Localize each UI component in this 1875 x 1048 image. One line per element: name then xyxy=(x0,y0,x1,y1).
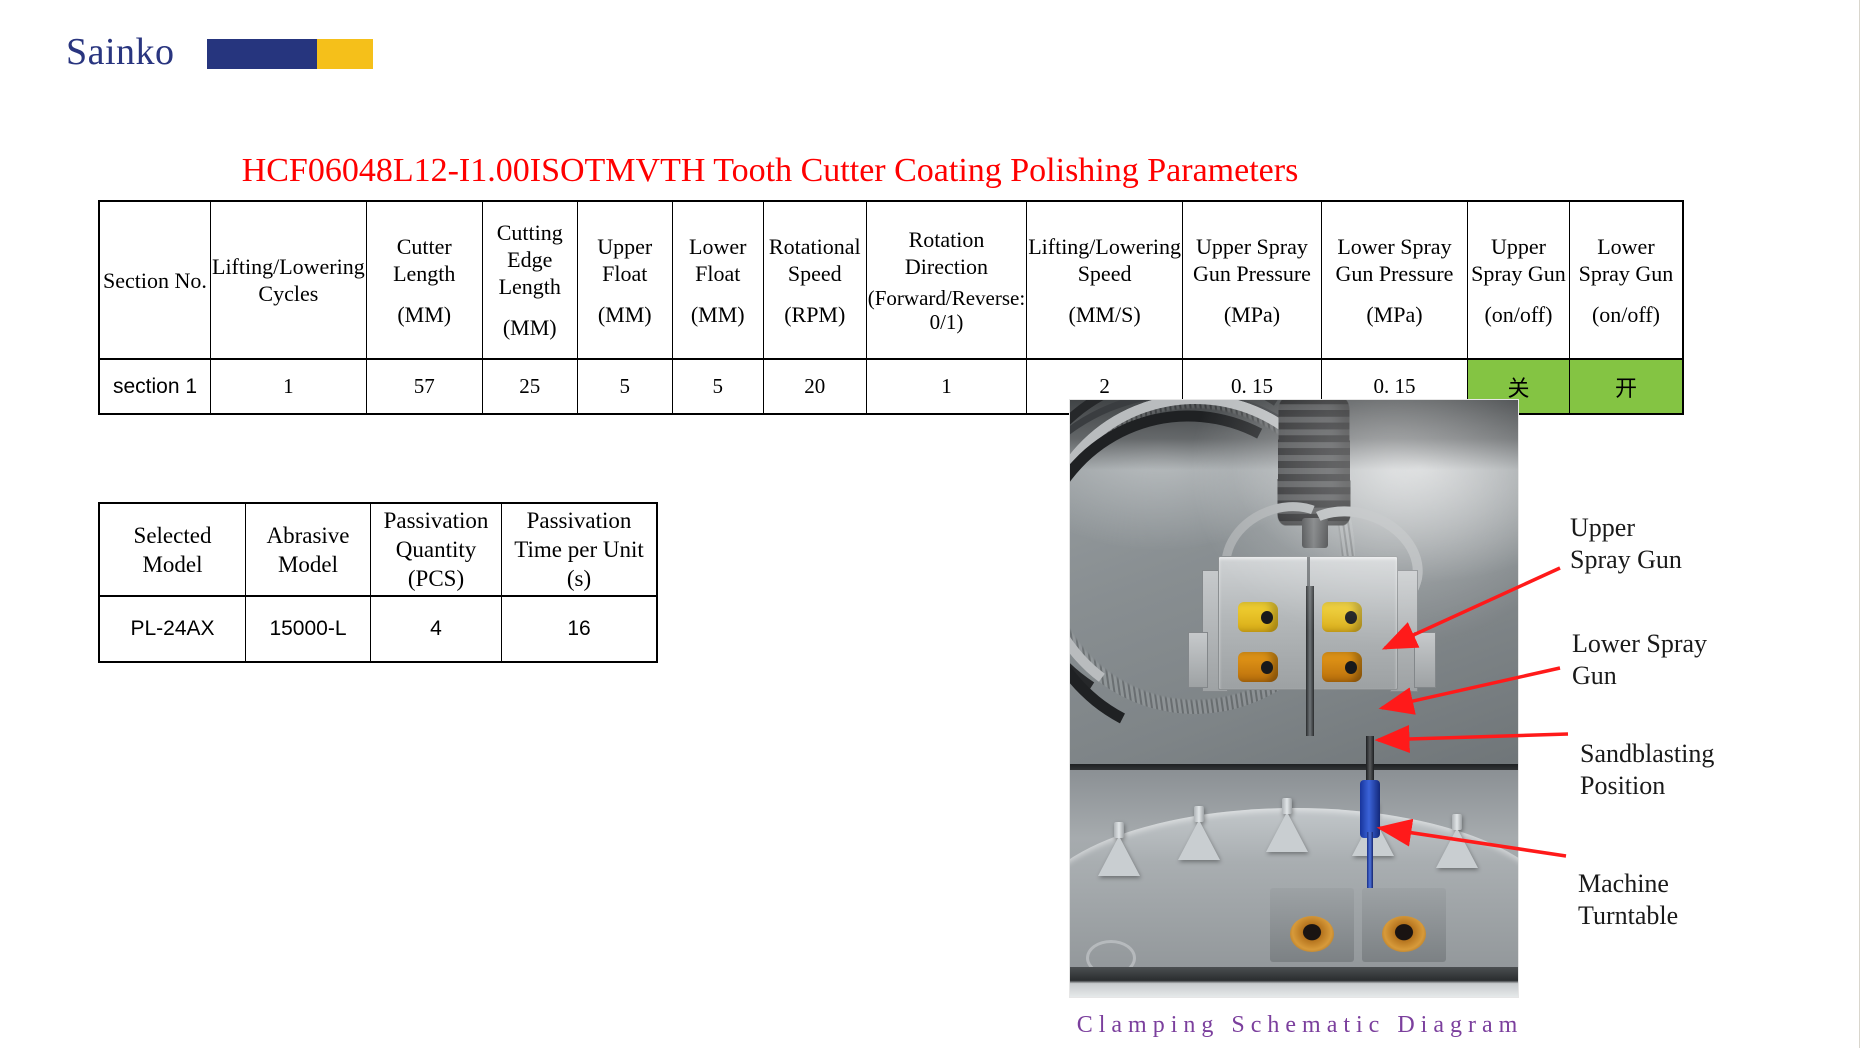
header-lower-spray-gun: Lower Spray Gun (on/off) xyxy=(1569,201,1683,359)
cell-section-no: section 1 xyxy=(99,359,211,414)
callout-upper-spray-gun: Upper Spray Gun xyxy=(1570,512,1682,576)
cell-cutting-edge-length: 25 xyxy=(482,359,577,414)
header-section-no: Section No. xyxy=(99,201,211,359)
cell-upper-float: 5 xyxy=(577,359,672,414)
brand-bar-yellow xyxy=(317,39,373,69)
callout-line: Machine xyxy=(1578,868,1678,900)
upper-spray-nozzle xyxy=(1238,602,1278,632)
tool-holder-cone xyxy=(1098,836,1140,876)
page-title: HCF06048L12-I1.00ISOTMVTH Tooth Cutter C… xyxy=(0,152,1540,190)
header-passivation-quantity: Passivation Quantity (PCS) xyxy=(371,503,502,596)
brand-logo: Sainko xyxy=(66,33,373,71)
cell-rotational-speed: 20 xyxy=(763,359,866,414)
brand-bar-blue xyxy=(207,39,317,69)
header-rotational-speed: Rotational Speed (RPM) xyxy=(763,201,866,359)
header-cutter-length: Cutter Length (MM) xyxy=(366,201,482,359)
callout-line: Turntable xyxy=(1578,900,1678,932)
tool-holder-cone xyxy=(1178,820,1220,860)
photo-caption: Clamping Schematic Diagram xyxy=(1070,1012,1530,1039)
abrasive-table-header-row: Selected Model Abrasive Model Passivatio… xyxy=(99,503,657,596)
callout-lower-spray-gun: Lower Spray Gun xyxy=(1572,628,1707,692)
cell-cutter-length: 57 xyxy=(366,359,482,414)
table-row: PL-24AX 15000-L 4 16 xyxy=(99,596,657,662)
header-lifting-lowering-cycles: Lifting/Lowering Cycles xyxy=(211,201,367,359)
callout-line: Position xyxy=(1580,770,1714,802)
callout-line: Gun xyxy=(1572,660,1707,692)
tool-rod xyxy=(1306,586,1314,736)
cell-lifting-lowering-cycles: 1 xyxy=(211,359,367,414)
header-passivation-time: Passivation Time per Unit (s) xyxy=(502,503,658,596)
parameter-table-header-row: Section No. Lifting/Lowering Cycles Cutt… xyxy=(99,201,1683,359)
callout-line: Upper xyxy=(1570,512,1682,544)
callout-machine-turntable: Machine Turntable xyxy=(1578,868,1678,932)
cell-lower-spray-gun-state: 开 xyxy=(1569,359,1683,414)
tool-holder-cone xyxy=(1266,812,1308,852)
brand-name: Sainko xyxy=(66,33,175,71)
document-page: Sainko HCF06048L12-I1.00ISOTMVTH Tooth C… xyxy=(0,0,1860,1048)
cell-abrasive-model: 15000-L xyxy=(246,596,371,662)
header-rotation-direction: Rotation Direction (Forward/Reverse: 0/1… xyxy=(866,201,1026,359)
upper-spray-nozzle xyxy=(1322,602,1362,632)
header-upper-gun-pressure: Upper Spray Gun Pressure (MPa) xyxy=(1182,201,1321,359)
mount-bracket xyxy=(1414,632,1436,688)
clamping-photo: 1180s xyxy=(1070,400,1518,997)
header-cutting-edge-length: Cutting Edge Length (MM) xyxy=(482,201,577,359)
header-selected-model: Selected Model xyxy=(99,503,246,596)
tool-spindle xyxy=(1366,736,1374,784)
blue-tool-holder xyxy=(1360,780,1380,838)
callout-line: Spray Gun xyxy=(1570,544,1682,576)
chuck-bore xyxy=(1382,916,1426,952)
cell-passivation-time: 16 xyxy=(502,596,658,662)
photo-bottom-strip xyxy=(1070,967,1518,997)
header-abrasive-model: Abrasive Model xyxy=(246,503,371,596)
header-lifting-lowering-speed: Lifting/Lowering Speed (MM/S) xyxy=(1027,201,1183,359)
cell-lower-float: 5 xyxy=(672,359,763,414)
header-lower-float: Lower Float (MM) xyxy=(672,201,763,359)
page-right-margin xyxy=(1861,0,1875,1048)
abrasive-table: Selected Model Abrasive Model Passivatio… xyxy=(98,502,658,663)
callout-line: Lower Spray xyxy=(1572,628,1707,660)
chuck-bore xyxy=(1290,916,1334,952)
brand-bars xyxy=(207,39,373,69)
cell-selected-model: PL-24AX xyxy=(99,596,246,662)
parameter-table: Section No. Lifting/Lowering Cycles Cutt… xyxy=(98,200,1684,415)
header-upper-spray-gun: Upper Spray Gun (on/off) xyxy=(1467,201,1569,359)
callout-line: Sandblasting xyxy=(1580,738,1714,770)
cell-passivation-quantity: 4 xyxy=(371,596,502,662)
header-upper-float: Upper Float (MM) xyxy=(577,201,672,359)
tool-holder-cone xyxy=(1436,828,1478,868)
header-lower-gun-pressure: Lower Spray Gun Pressure (MPa) xyxy=(1321,201,1467,359)
lower-spray-nozzle xyxy=(1238,652,1278,682)
lower-spray-nozzle xyxy=(1322,652,1362,682)
cell-rotation-direction: 1 xyxy=(866,359,1026,414)
mount-bracket xyxy=(1188,632,1208,688)
callout-sandblasting-position: Sandblasting Position xyxy=(1580,738,1714,802)
